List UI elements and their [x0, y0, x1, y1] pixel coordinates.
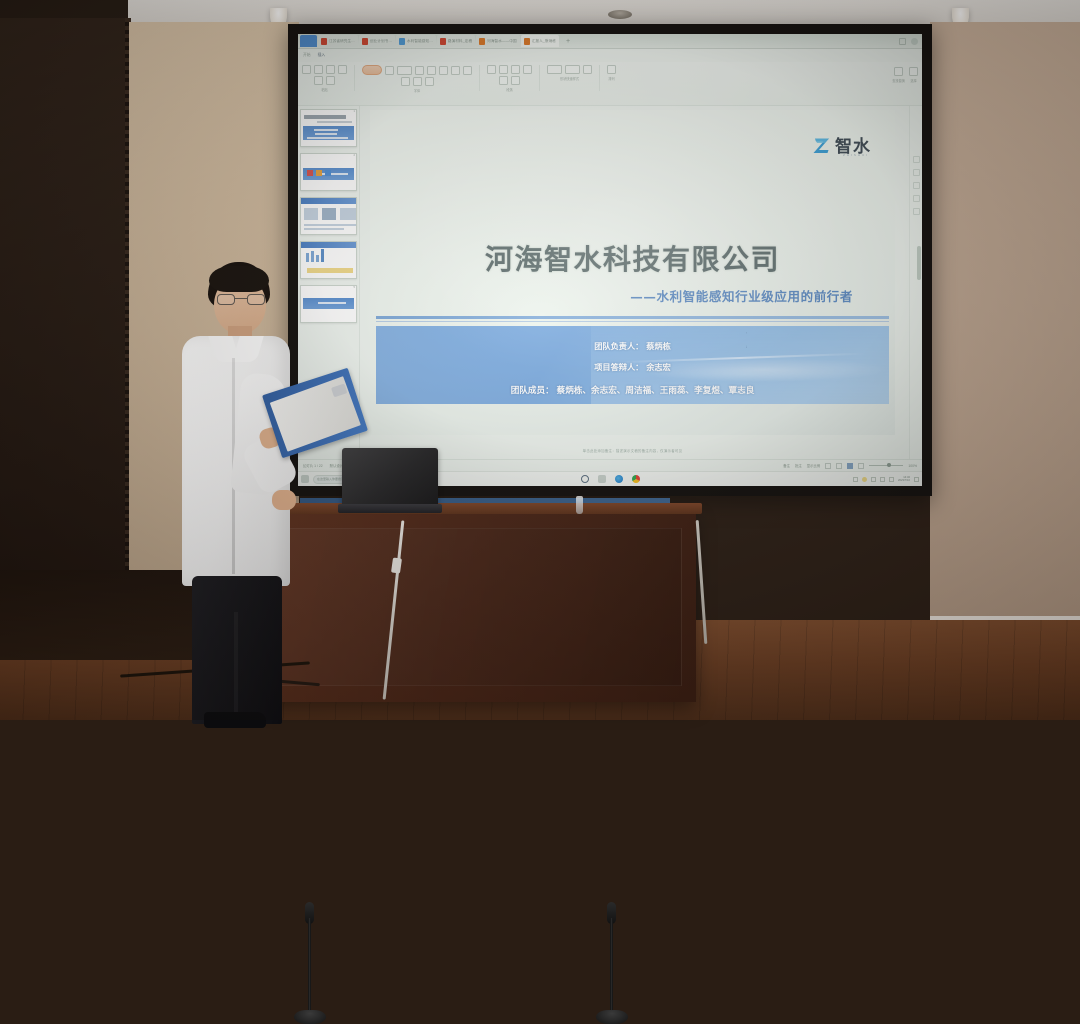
mic-gooseneck — [308, 918, 311, 1014]
ime-icon[interactable] — [853, 477, 858, 482]
slide-number: 2 — [354, 154, 355, 157]
resources-icon[interactable] — [913, 169, 920, 176]
editor-body: 1 2 — [298, 106, 922, 459]
laptop — [338, 448, 442, 516]
smoke-detector-icon — [608, 10, 632, 19]
ribbon-group-find: 查找替换 — [892, 67, 905, 83]
ribbon-group-label: 段落 — [506, 87, 512, 92]
ppt-icon — [440, 38, 446, 45]
microphone-right — [596, 894, 628, 1024]
ribbon-row — [487, 65, 532, 74]
ribbon-group-select: 选择 — [909, 67, 918, 83]
document-tab-label: 河海智水——中国 — [487, 39, 517, 44]
presenter — [176, 262, 294, 720]
new-slide-button[interactable] — [362, 65, 382, 75]
projection-screen-frame: 江苏省研究生… 创业计划书… 水利智能感知… 路演材料_定稿 — [288, 24, 932, 496]
wall-panel-left — [0, 18, 131, 638]
display-ratio-label[interactable]: 显示比例 — [807, 463, 821, 468]
copy-icon[interactable] — [326, 65, 335, 74]
select-icon[interactable] — [909, 67, 918, 76]
current-slide[interactable]: 智水 ZHISHUI 河海智水科技有限公司 ——水利智能感知行业级应用的前行者 … — [370, 110, 895, 435]
laptop-screen-lid — [342, 448, 438, 506]
reading-view-icon[interactable] — [847, 463, 853, 469]
projection-screen: 江苏省研究生… 创业计划书… 水利智能感知… 路演材料_定稿 — [298, 34, 922, 486]
team-info-band: 团队负责人： 蔡炳栋 项目答辩人： 余志宏 团队成员： 蔡炳栋、余志宏、周洁福、… — [376, 326, 889, 404]
zoom-level-label: 100% — [908, 464, 917, 468]
wall-right — [930, 22, 1080, 632]
account-avatar-icon[interactable] — [911, 38, 918, 45]
glasses-icon — [216, 294, 266, 305]
shapes-panel-icon[interactable] — [913, 182, 920, 189]
task-view-icon[interactable] — [598, 475, 606, 483]
battery-icon[interactable] — [889, 477, 894, 482]
doc-icon — [321, 38, 327, 45]
mic-gooseneck — [610, 918, 613, 1014]
ribbon-toolbar: 粘贴 — [298, 62, 922, 106]
ribbon-tab-start[interactable]: 开始 — [303, 53, 311, 58]
presenter-hand-holding — [272, 490, 296, 510]
notification-dot-icon[interactable] — [862, 477, 867, 482]
slide-title: 河海智水科技有限公司 — [370, 238, 895, 278]
italic-icon[interactable] — [427, 66, 436, 75]
status-bar-right: 备注 批注 显示比例 100% — [783, 463, 917, 469]
document-tab[interactable]: 河海智水——中国 — [476, 35, 520, 47]
doc-icon — [362, 38, 368, 45]
layout-icon[interactable] — [385, 66, 394, 75]
ribbon-group-label: 粘贴 — [321, 87, 327, 92]
z-mark-icon — [812, 135, 832, 155]
ribbon-tab-row: 开始 插入 — [298, 49, 922, 62]
line-spacing-icon[interactable] — [425, 77, 434, 86]
ribbon-separator — [354, 65, 355, 91]
document-tab-label: 路演材料_定稿 — [448, 39, 472, 44]
ppt-icon — [399, 38, 405, 45]
presenter-trousers — [192, 576, 282, 724]
columns-icon[interactable] — [511, 76, 520, 85]
show-desktop-icon[interactable] — [914, 477, 919, 482]
shape-style-icon[interactable] — [547, 65, 562, 74]
ceiling-dark-edge — [0, 0, 128, 20]
bold-icon[interactable] — [415, 66, 424, 75]
slide-thumbnail[interactable]: 2 — [300, 153, 357, 191]
slideshow-icon[interactable] — [858, 463, 864, 469]
underline-icon[interactable] — [439, 66, 448, 75]
document-tab[interactable]: 江苏省研究生… — [318, 35, 358, 47]
arrange-icon[interactable] — [607, 65, 616, 74]
volume-icon[interactable] — [880, 477, 885, 482]
vertical-scrollbar[interactable] — [917, 246, 921, 280]
ribbon-row — [547, 65, 592, 74]
mic-base — [596, 1010, 628, 1024]
microphone-left — [294, 900, 326, 1024]
mic-base — [294, 1010, 326, 1024]
conference-room: 江苏省研究生… 创业计划书… 水利智能感知… 路演材料_定稿 — [0, 0, 1080, 720]
new-tab-button[interactable]: + — [566, 38, 570, 45]
edge-icon[interactable] — [615, 475, 623, 483]
ribbon-separator — [599, 65, 600, 91]
slide-notes-hint[interactable]: 单击此处添加备注：描述演示文稿的备注内容，仅演示者可见 — [370, 448, 895, 453]
slide-subtitle: ——水利智能感知行业级应用的前行者 — [630, 286, 853, 305]
slide-index-label: 幻灯片 1 / 22 — [303, 463, 323, 468]
document-tab-label: 创业计划书… — [370, 39, 392, 44]
comments-toggle-label[interactable]: 批注 — [795, 463, 802, 468]
right-tool-rail — [909, 106, 922, 459]
slide-canvas-area: 智水 ZHISHUI 河海智水科技有限公司 ——水利智能感知行业级应用的前行者 … — [360, 106, 909, 459]
slide-thumbnail[interactable]: 4 — [300, 241, 357, 279]
slide-number: 1 — [354, 110, 355, 113]
text-effect-icon[interactable] — [401, 77, 410, 86]
ribbon-group-paragraph: 段落 — [487, 65, 532, 92]
cortana-icon[interactable] — [581, 475, 589, 483]
paste-icon[interactable] — [302, 65, 311, 74]
presenter-fringe — [209, 266, 269, 292]
ribbon-row — [401, 77, 434, 86]
cut-icon[interactable] — [314, 65, 323, 74]
ribbon-group-label: 字体 — [414, 88, 420, 93]
document-tab[interactable]: 水利智能感知… — [396, 35, 436, 47]
notes-toggle-label[interactable]: 备注 — [783, 463, 790, 468]
ribbon-row — [302, 65, 347, 74]
shape-fill-icon[interactable] — [565, 65, 580, 74]
ribbon-tab-insert[interactable]: 插入 — [318, 53, 326, 58]
network-icon[interactable] — [871, 477, 876, 482]
podium-surface — [260, 503, 702, 514]
ribbon-row — [314, 76, 335, 85]
slide-divider — [376, 316, 889, 319]
ribbon-right-group: 查找替换 选择 — [892, 65, 918, 83]
highlight-icon[interactable] — [463, 66, 472, 75]
slide-number: 5 — [354, 286, 355, 289]
ribbon-group-label: 查找替换 — [892, 78, 905, 83]
presenter-shoe — [204, 712, 266, 728]
ribbon-group-label: 形状快速样式 — [560, 76, 579, 81]
redo-icon[interactable] — [326, 76, 335, 85]
font-size-selector[interactable] — [397, 66, 412, 75]
zoom-slider[interactable] — [869, 465, 903, 466]
document-tab-active[interactable]: 汇报人_蔡炳栋 — [521, 35, 559, 47]
document-tab-label: 汇报人_蔡炳栋 — [532, 39, 556, 44]
window-controls — [899, 38, 922, 45]
ribbon-group-shape-styles: 形状快速样式 — [547, 65, 592, 81]
normal-view-icon[interactable] — [825, 463, 831, 469]
ribbon-separator — [479, 65, 480, 91]
indent-icon[interactable] — [499, 76, 508, 85]
slide-divider-thin — [376, 321, 889, 322]
align-left-icon[interactable] — [487, 65, 496, 74]
company-logo-subtext: ZHISHUI — [843, 153, 869, 157]
document-tab[interactable]: 路演材料_定稿 — [437, 35, 475, 47]
laptop-base — [338, 504, 442, 513]
minimize-icon[interactable] — [899, 38, 906, 45]
ribbon-group-font: 字体 — [362, 65, 472, 93]
home-tab-icon[interactable] — [300, 35, 317, 47]
shape-outline-icon[interactable] — [583, 65, 592, 74]
water-bottle — [576, 496, 583, 514]
sorter-view-icon[interactable] — [836, 463, 842, 469]
undo-icon[interactable] — [314, 76, 323, 85]
cloud-panel-icon[interactable] — [913, 208, 920, 215]
ppt-icon — [479, 38, 485, 45]
podium-front-panel — [280, 528, 682, 686]
document-tab-bar: 江苏省研究生… 创业计划书… 水利智能感知… 路演材料_定稿 — [298, 34, 922, 49]
document-tab[interactable]: 创业计划书… — [359, 35, 395, 47]
team-members-line: 团队成员： 蔡炳栋、余志宏、周洁福、王雨蕊、李复煜、覃志良 — [376, 384, 889, 396]
chrome-icon[interactable] — [632, 475, 640, 483]
ribbon-row — [362, 65, 472, 75]
wps-office-window: 江苏省研究生… 创业计划书… 水利智能感知… 路演材料_定稿 — [298, 34, 922, 486]
project-presenter-line: 项目答辩人： 余志宏 — [376, 361, 889, 373]
align-right-icon[interactable] — [511, 65, 520, 74]
document-tab-label: 江苏省研究生… — [329, 39, 355, 44]
slide-thumbnail[interactable]: 3 — [300, 197, 357, 235]
ribbon-row — [499, 76, 520, 85]
ribbon-group-arrange: 排列 — [607, 65, 616, 81]
slide-thumbnail[interactable]: 1 — [300, 109, 357, 147]
ribbon-group-label: 选择 — [910, 78, 916, 83]
find-replace-icon[interactable] — [894, 67, 903, 76]
ribbon-group-paste: 粘贴 — [302, 65, 347, 92]
media-panel-icon[interactable] — [913, 195, 920, 202]
bullet-list-icon[interactable] — [523, 65, 532, 74]
align-center-icon[interactable] — [499, 65, 508, 74]
document-tab-label: 水利智能感知… — [407, 39, 433, 44]
podium — [266, 512, 696, 702]
ribbon-separator — [539, 65, 540, 91]
format-painter-icon[interactable] — [338, 65, 347, 74]
ribbon-row — [607, 65, 616, 74]
font-color-icon[interactable] — [451, 66, 460, 75]
design-ideas-icon[interactable] — [913, 156, 920, 163]
clear-format-icon[interactable] — [413, 77, 422, 86]
ppt-icon — [524, 38, 530, 45]
slide-thumbnail[interactable]: 5 — [300, 285, 357, 323]
ribbon-group-label: 排列 — [608, 76, 614, 81]
team-leader-line: 团队负责人： 蔡炳栋 — [376, 340, 889, 352]
